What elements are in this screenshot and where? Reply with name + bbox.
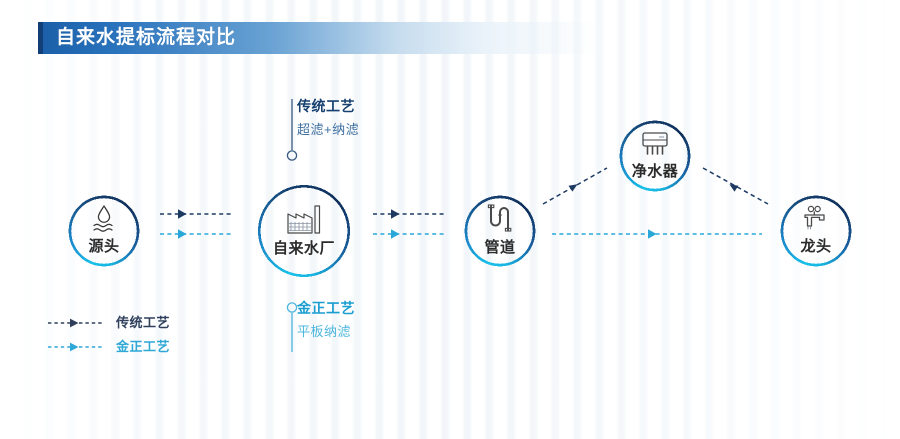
water-purifier-icon xyxy=(638,129,672,159)
title-accent-bar xyxy=(38,22,43,54)
faucet-icon xyxy=(799,204,833,234)
callout-traditional-process: 传统工艺 超滤+纳滤 xyxy=(297,96,359,138)
legend-item-traditional: 传统工艺 xyxy=(48,312,170,331)
legend-label-jinzheng: 金正工艺 xyxy=(116,336,170,355)
callout-jinzheng-subtitle: 平板纳滤 xyxy=(297,321,355,340)
node-pipeline[interactable]: 管道 xyxy=(450,181,550,281)
node-label-source: 源头 xyxy=(88,235,119,256)
edge-traditional-pipe-purifier xyxy=(543,168,607,204)
legend: 传统工艺 金正工艺 xyxy=(48,312,170,355)
callout-traditional-title: 传统工艺 xyxy=(297,96,359,116)
node-label-faucet: 龙头 xyxy=(800,235,831,256)
edge-traditional-plant-pipe xyxy=(373,209,445,219)
node-water-purifier[interactable]: 净水器 xyxy=(605,106,705,206)
callout-stem-top xyxy=(287,99,296,160)
legend-item-jinzheng: 金正工艺 xyxy=(48,336,170,355)
callout-stem-bottom xyxy=(287,303,296,352)
node-water-plant[interactable]: 自来水厂 xyxy=(239,166,369,296)
page-title: 自来水提标流程对比 xyxy=(56,22,236,54)
edge-jinzheng-source-plant xyxy=(160,229,232,239)
legend-marker-jinzheng-icon xyxy=(48,340,106,352)
node-label-water-plant: 自来水厂 xyxy=(273,237,335,258)
callout-jinzheng-process: 金正工艺 平板纳滤 xyxy=(297,298,355,340)
legend-label-traditional: 传统工艺 xyxy=(116,312,170,331)
callout-traditional-subtitle: 超滤+纳滤 xyxy=(297,119,359,138)
page-title-banner: 自来水提标流程对比 xyxy=(38,22,598,54)
edge-traditional-source-plant xyxy=(160,209,232,219)
edge-jinzheng-pipe-faucet xyxy=(552,229,762,239)
edge-traditional-purifier-faucet xyxy=(703,168,768,204)
water-drop-waves-icon xyxy=(87,204,121,234)
node-label-water-purifier: 净水器 xyxy=(632,160,679,181)
node-faucet[interactable]: 龙头 xyxy=(766,181,866,281)
factory-icon xyxy=(284,202,324,236)
edge-jinzheng-plant-pipe xyxy=(373,229,445,239)
pipe-icon xyxy=(484,203,516,235)
node-label-pipeline: 管道 xyxy=(484,236,515,257)
callout-jinzheng-title: 金正工艺 xyxy=(297,298,355,318)
diagram-canvas: 自来水提标流程对比 xyxy=(0,0,900,439)
legend-marker-traditional-icon xyxy=(48,316,106,328)
node-source[interactable]: 源头 xyxy=(54,181,154,281)
